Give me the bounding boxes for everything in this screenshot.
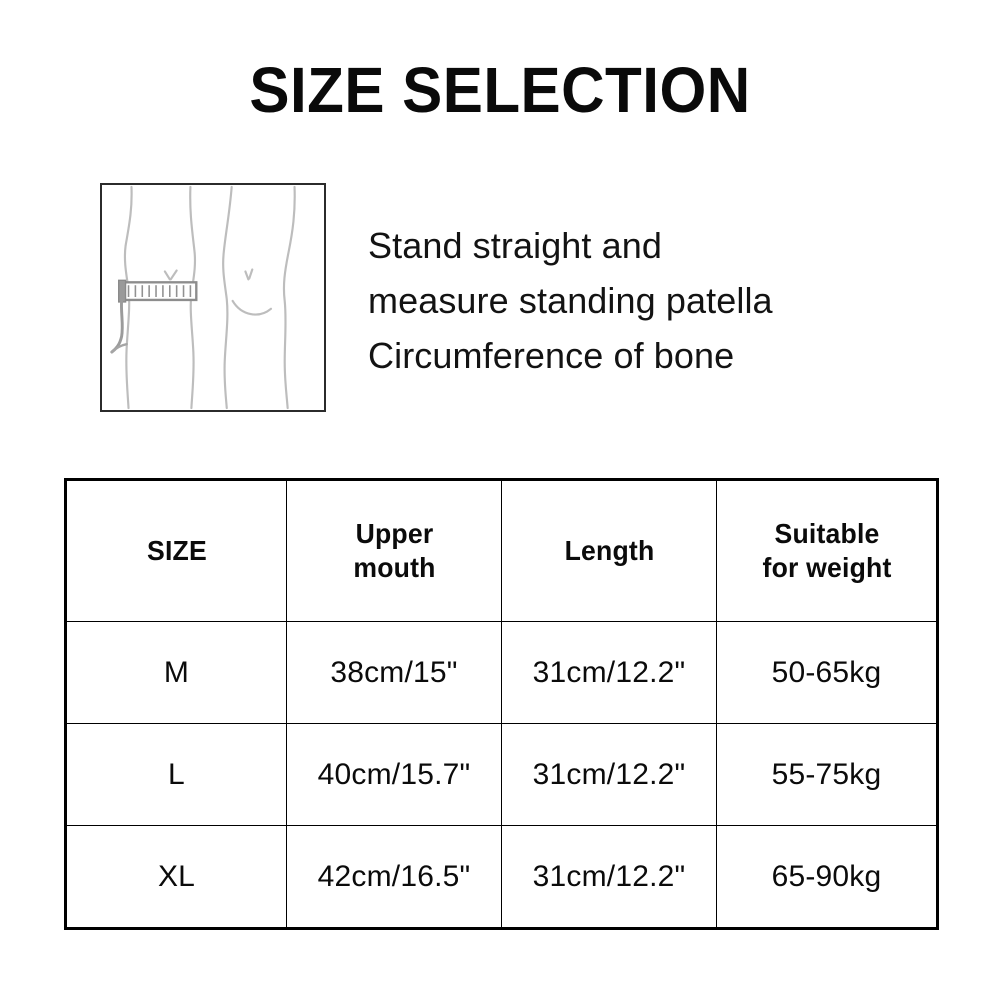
instruction-line-2: measure standing patella <box>368 273 928 328</box>
right-leg-outer-outline <box>284 187 295 408</box>
cell-length: 31cm/12.2" <box>502 622 717 724</box>
cell-upper-mouth: 38cm/15" <box>287 622 502 724</box>
cell-length: 31cm/12.2" <box>502 826 717 929</box>
table-header: SIZE Upper mouth Length Suitable for wei… <box>66 480 938 622</box>
column-header-length: Length <box>507 480 711 622</box>
knee-measurement-illustration <box>100 183 326 412</box>
instruction-line-1: Stand straight and <box>368 218 928 273</box>
right-patella-curve <box>233 301 271 315</box>
table-row: M 38cm/15" 31cm/12.2" 50-65kg <box>66 622 938 724</box>
size-chart-table: SIZE Upper mouth Length Suitable for wei… <box>64 478 939 930</box>
table-header-row: SIZE Upper mouth Length Suitable for wei… <box>66 480 938 622</box>
column-header-upper-mouth: Upper mouth <box>292 480 496 622</box>
column-header-size-line-1: SIZE <box>78 534 275 568</box>
cell-length: 31cm/12.2" <box>502 724 717 826</box>
tape-tail <box>112 300 123 352</box>
cell-size: M <box>66 622 287 724</box>
column-header-weight-line-1: Suitable <box>728 517 925 551</box>
size-table-container: SIZE Upper mouth Length Suitable for wei… <box>64 478 936 922</box>
cell-weight: 50-65kg <box>717 622 938 724</box>
cell-weight: 55-75kg <box>717 724 938 826</box>
right-knee-crease-2 <box>249 269 252 278</box>
cell-weight: 65-90kg <box>717 826 938 929</box>
legs-line-art <box>102 185 324 410</box>
left-knee-crease-2 <box>171 270 177 279</box>
column-header-size: SIZE <box>71 480 281 622</box>
page-title: SIZE SELECTION <box>30 58 970 122</box>
measurement-instructions: Stand straight and measure standing pate… <box>368 218 928 383</box>
cell-size: L <box>66 724 287 826</box>
cell-size: XL <box>66 826 287 929</box>
table-row: XL 42cm/16.5" 31cm/12.2" 65-90kg <box>66 826 938 929</box>
column-header-upper-mouth-line-1: Upper <box>298 517 490 551</box>
tape-band <box>122 282 197 300</box>
measuring-tape <box>112 280 196 352</box>
column-header-weight-line-2: for weight <box>728 551 925 585</box>
table-row: L 40cm/15.7" 31cm/12.2" 55-75kg <box>66 724 938 826</box>
cell-upper-mouth: 40cm/15.7" <box>287 724 502 826</box>
instruction-line-3: Circumference of bone <box>368 328 928 383</box>
cell-upper-mouth: 42cm/16.5" <box>287 826 502 929</box>
table-body: M 38cm/15" 31cm/12.2" 50-65kg L 40cm/15.… <box>66 622 938 929</box>
right-leg-inner-outline <box>223 187 232 408</box>
column-header-length-line-1: Length <box>513 534 705 568</box>
right-knee-crease-1 <box>245 271 248 279</box>
column-header-suitable-for-weight: Suitable for weight <box>722 480 932 622</box>
left-knee-crease-1 <box>165 271 170 279</box>
column-header-upper-mouth-line-2: mouth <box>298 551 490 585</box>
